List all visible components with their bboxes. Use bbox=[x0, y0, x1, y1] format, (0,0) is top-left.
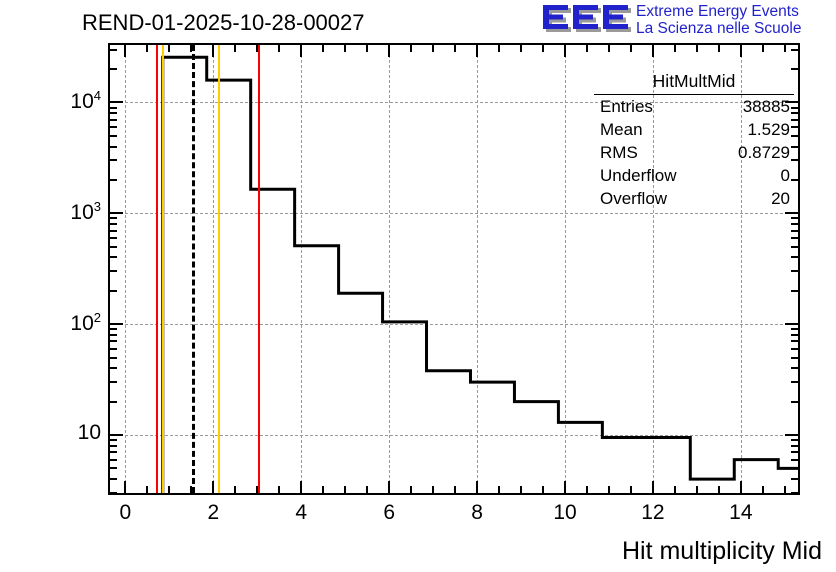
x-axis-tick bbox=[388, 45, 390, 57]
y-axis-tick bbox=[110, 246, 117, 248]
x-axis-tick bbox=[344, 45, 346, 52]
x-axis-tick bbox=[762, 486, 764, 493]
y-axis-tick bbox=[791, 340, 798, 342]
x-axis-tick bbox=[586, 45, 588, 52]
x-axis-tick bbox=[564, 481, 566, 493]
x-axis-tick bbox=[762, 45, 764, 52]
eee-logo-line-2: La Scienza nelle Scuole bbox=[636, 20, 801, 37]
x-axis-tick bbox=[190, 45, 192, 52]
y-axis-tick bbox=[110, 179, 117, 181]
x-axis-tick-label: 2 bbox=[207, 501, 219, 525]
x-axis-tick bbox=[256, 486, 258, 493]
y-axis-tick bbox=[791, 451, 798, 453]
y-axis-tick-label: 10 bbox=[78, 421, 101, 445]
y-axis-tick bbox=[791, 439, 798, 441]
x-axis-tick bbox=[344, 486, 346, 493]
y-axis-tick bbox=[110, 439, 117, 441]
y-axis-tick bbox=[110, 126, 117, 128]
y-axis-tick bbox=[110, 217, 117, 219]
y-axis-tick bbox=[791, 246, 798, 248]
y-axis-tick bbox=[791, 367, 798, 369]
y-axis-tick bbox=[791, 49, 798, 51]
stats-row-label: Underflow bbox=[600, 166, 677, 186]
y-axis-tick bbox=[110, 467, 117, 469]
y-axis-tick bbox=[791, 237, 798, 239]
y-axis-tick bbox=[791, 223, 798, 225]
x-axis-tick bbox=[586, 486, 588, 493]
y-axis-tick bbox=[791, 328, 798, 330]
x-axis-tick bbox=[146, 486, 148, 493]
y-axis-tick bbox=[785, 212, 798, 214]
stats-row: Entries38885 bbox=[594, 95, 794, 118]
y-axis-tick bbox=[785, 434, 798, 436]
x-axis-tick-label: 8 bbox=[471, 501, 483, 525]
y-axis-tick bbox=[110, 459, 117, 461]
x-axis-tick bbox=[256, 45, 258, 52]
x-axis-tick bbox=[300, 481, 302, 493]
y-axis-tick bbox=[785, 323, 798, 325]
x-axis-tick bbox=[124, 481, 126, 493]
x-axis-tick bbox=[432, 486, 434, 493]
y-axis-tick bbox=[110, 230, 117, 232]
x-axis-tick bbox=[212, 45, 214, 57]
y-axis-tick-label: 104 bbox=[70, 88, 101, 114]
x-axis-tick bbox=[476, 481, 478, 493]
stats-title: HitMultMid bbox=[594, 70, 794, 95]
y-axis-tick bbox=[110, 101, 123, 103]
stats-box: HitMultMid Entries38885Mean1.529RMS0.872… bbox=[594, 70, 794, 210]
y-axis-tick bbox=[791, 459, 798, 461]
stats-row-label: Mean bbox=[600, 120, 643, 140]
x-axis-tick bbox=[718, 45, 720, 52]
x-axis-tick bbox=[542, 45, 544, 52]
y-axis-tick bbox=[110, 146, 117, 148]
stats-row-label: Overflow bbox=[600, 189, 667, 209]
x-axis-tick bbox=[124, 45, 126, 57]
x-axis-tick bbox=[278, 45, 280, 52]
y-axis-tick bbox=[110, 478, 117, 480]
x-axis-tick bbox=[410, 486, 412, 493]
x-axis-tick bbox=[388, 481, 390, 493]
x-axis-tick bbox=[146, 45, 148, 52]
x-axis-tick bbox=[652, 481, 654, 493]
stats-row: Underflow0 bbox=[594, 164, 794, 187]
y-axis-tick bbox=[110, 445, 117, 447]
x-axis-tick bbox=[608, 486, 610, 493]
y-axis-tick bbox=[791, 357, 798, 359]
x-axis-tick bbox=[234, 45, 236, 52]
eee-logo: Extreme Energy Events La Scienza nelle S… bbox=[540, 3, 832, 41]
y-axis-tick bbox=[110, 348, 117, 350]
y-axis-tick-label: 103 bbox=[70, 199, 101, 225]
stats-row: Overflow20 bbox=[594, 187, 794, 210]
x-axis-tick bbox=[652, 45, 654, 57]
stats-row-label: RMS bbox=[600, 143, 638, 163]
x-axis-tick bbox=[784, 45, 786, 52]
x-axis-tick bbox=[630, 45, 632, 52]
x-axis-tick bbox=[674, 45, 676, 52]
y-axis-tick bbox=[791, 478, 798, 480]
x-axis-tick bbox=[366, 486, 368, 493]
x-axis-tick bbox=[520, 45, 522, 52]
stats-row-value: 38885 bbox=[743, 97, 790, 117]
y-axis-tick bbox=[110, 357, 117, 359]
y-axis-tick bbox=[110, 323, 123, 325]
x-axis-tick bbox=[234, 486, 236, 493]
x-axis-tick bbox=[476, 45, 478, 57]
y-axis-tick bbox=[110, 367, 117, 369]
y-axis-tick bbox=[791, 217, 798, 219]
root-canvas: REND-01-2025-10-28-00027 bbox=[0, 0, 836, 572]
x-axis-tick bbox=[278, 486, 280, 493]
eee-logo-text: Extreme Energy Events La Scienza nelle S… bbox=[636, 3, 801, 37]
y-axis-tick bbox=[110, 270, 117, 272]
x-axis-tick bbox=[542, 486, 544, 493]
x-axis-tick bbox=[498, 45, 500, 52]
x-axis-tick bbox=[410, 45, 412, 52]
y-axis-tick bbox=[791, 256, 798, 258]
y-axis-tick bbox=[110, 212, 123, 214]
y-axis-tick bbox=[110, 381, 117, 383]
y-axis-tick bbox=[110, 328, 117, 330]
x-axis-tick bbox=[432, 45, 434, 52]
y-axis-tick-label: 102 bbox=[70, 310, 101, 336]
stats-row: Mean1.529 bbox=[594, 118, 794, 141]
y-axis-tick bbox=[791, 334, 798, 336]
y-axis-tick bbox=[110, 135, 117, 137]
x-axis-tick bbox=[168, 45, 170, 52]
x-axis-tick bbox=[740, 481, 742, 493]
stats-row-label: Entries bbox=[600, 97, 653, 117]
x-axis-tick bbox=[498, 486, 500, 493]
y-axis-tick bbox=[110, 119, 117, 121]
x-axis-tick bbox=[212, 481, 214, 493]
y-axis-tick bbox=[791, 270, 798, 272]
x-axis-tick bbox=[608, 45, 610, 52]
y-axis-tick bbox=[110, 68, 117, 70]
y-axis-tick bbox=[110, 223, 117, 225]
y-axis-tick bbox=[110, 401, 117, 403]
stats-row-value: 1.529 bbox=[747, 120, 790, 140]
y-axis-tick bbox=[110, 159, 117, 161]
y-axis-tick bbox=[110, 451, 117, 453]
x-axis-tick-label: 12 bbox=[641, 501, 664, 525]
eee-logo-mark-icon bbox=[540, 3, 632, 37]
x-axis-tick bbox=[300, 45, 302, 57]
x-axis-tick-label: 6 bbox=[383, 501, 395, 525]
y-axis-tick bbox=[791, 348, 798, 350]
y-axis-tick bbox=[791, 401, 798, 403]
x-axis-tick bbox=[366, 45, 368, 52]
stats-row-value: 0.8729 bbox=[738, 143, 790, 163]
x-axis-tick bbox=[190, 486, 192, 493]
x-axis-tick bbox=[322, 45, 324, 52]
y-axis-tick bbox=[110, 237, 117, 239]
x-axis-tick bbox=[564, 45, 566, 57]
y-axis-tick bbox=[791, 290, 798, 292]
x-axis-tick-label: 10 bbox=[553, 501, 576, 525]
y-axis-tick bbox=[791, 230, 798, 232]
stats-rows: Entries38885Mean1.529RMS0.8729Underflow0… bbox=[594, 95, 794, 210]
y-axis-tick bbox=[110, 334, 117, 336]
x-axis-tick bbox=[696, 45, 698, 52]
y-axis-tick bbox=[110, 290, 117, 292]
x-axis-tick bbox=[696, 486, 698, 493]
x-axis-tick bbox=[784, 486, 786, 493]
x-axis-tick bbox=[454, 45, 456, 52]
x-axis-tick bbox=[520, 486, 522, 493]
x-axis-tick bbox=[630, 486, 632, 493]
stats-row-value: 20 bbox=[771, 189, 790, 209]
x-axis-tick-label: 14 bbox=[729, 501, 752, 525]
y-axis-tick bbox=[110, 492, 117, 494]
x-axis-tick bbox=[674, 486, 676, 493]
stats-row: RMS0.8729 bbox=[594, 141, 794, 164]
y-axis-tick bbox=[791, 467, 798, 469]
x-axis-tick bbox=[718, 486, 720, 493]
x-axis-title: Hit multiplicity Mid bbox=[622, 537, 822, 566]
y-axis-tick bbox=[791, 492, 798, 494]
x-axis-tick bbox=[740, 45, 742, 57]
x-axis-tick bbox=[168, 486, 170, 493]
x-axis-tick bbox=[322, 486, 324, 493]
stats-row-value: 0 bbox=[781, 166, 790, 186]
y-axis-tick bbox=[791, 381, 798, 383]
page-title: REND-01-2025-10-28-00027 bbox=[82, 10, 365, 36]
y-axis-tick bbox=[791, 445, 798, 447]
y-axis-tick bbox=[110, 112, 117, 114]
x-axis-tick bbox=[454, 486, 456, 493]
x-axis-tick-label: 4 bbox=[295, 501, 307, 525]
y-axis-tick bbox=[110, 107, 117, 109]
y-axis-tick bbox=[110, 340, 117, 342]
y-axis-tick bbox=[110, 256, 117, 258]
x-axis-tick-label: 0 bbox=[120, 501, 132, 525]
eee-logo-line-1: Extreme Energy Events bbox=[636, 3, 801, 20]
y-axis-tick bbox=[110, 49, 117, 51]
y-axis-tick bbox=[110, 434, 123, 436]
